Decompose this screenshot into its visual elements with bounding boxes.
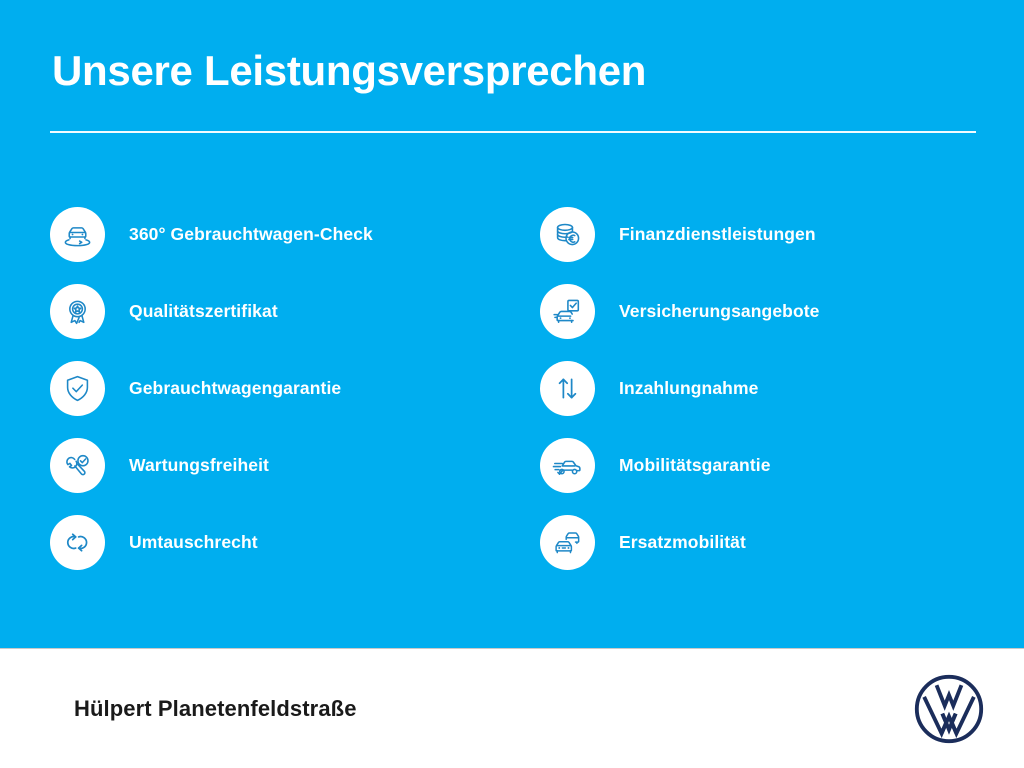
two-cars-icon (540, 515, 595, 570)
shield-check-icon (50, 361, 105, 416)
benefit-label: Qualitätszertifikat (129, 301, 278, 322)
benefits-right-column: Finanzdienstleistungen (520, 196, 1024, 581)
benefit-item-ersatzmobilitaet[interactable]: Ersatzmobilität (540, 504, 1024, 581)
coins-euro-icon (540, 207, 595, 262)
benefit-item-360-check[interactable]: 360° Gebrauchtwagen-Check (50, 196, 520, 273)
car-motion-check-icon (540, 438, 595, 493)
benefit-label: Finanzdienstleistungen (619, 224, 816, 245)
benefit-label: Gebrauchtwagengarantie (129, 378, 341, 399)
benefit-label: Mobilitätsgarantie (619, 455, 771, 476)
hero-panel: Unsere Leistungsversprechen (0, 0, 1024, 648)
benefit-label: 360° Gebrauchtwagen-Check (129, 224, 373, 245)
page-title: Unsere Leistungsversprechen (52, 46, 646, 96)
benefit-label: Ersatzmobilität (619, 532, 746, 553)
benefit-item-finanzdienstleistungen[interactable]: Finanzdienstleistungen (540, 196, 1024, 273)
exchange-arrows-icon (50, 515, 105, 570)
benefit-item-versicherungsangebote[interactable]: Versicherungsangebote (540, 273, 1024, 350)
wrench-check-icon (50, 438, 105, 493)
benefits-columns: 360° Gebrauchtwagen-Check Qualitätszerti… (0, 196, 1024, 581)
award-rosette-icon (50, 284, 105, 339)
arrows-up-down-icon (540, 361, 595, 416)
benefit-label: Wartungsfreiheit (129, 455, 269, 476)
volkswagen-logo-icon[interactable] (912, 672, 986, 746)
title-divider (50, 131, 976, 133)
benefit-item-umtauschrecht[interactable]: Umtauschrecht (50, 504, 520, 581)
benefit-item-inzahlungnahme[interactable]: Inzahlungnahme (540, 350, 1024, 427)
benefit-item-wartungsfreiheit[interactable]: Wartungsfreiheit (50, 427, 520, 504)
benefits-left-column: 360° Gebrauchtwagen-Check Qualitätszerti… (0, 196, 520, 581)
car-checkbox-icon (540, 284, 595, 339)
dealer-name: Hülpert Planetenfeldstraße (74, 696, 357, 722)
car-360-check-icon (50, 207, 105, 262)
benefit-item-mobilitaetsgarantie[interactable]: Mobilitätsgarantie (540, 427, 1024, 504)
benefit-label: Inzahlungnahme (619, 378, 758, 399)
footer-bar: Hülpert Planetenfeldstraße (0, 649, 1024, 768)
benefit-label: Versicherungsangebote (619, 301, 820, 322)
benefit-item-gebrauchtwagengarantie[interactable]: Gebrauchtwagengarantie (50, 350, 520, 427)
benefit-item-qualitaetszertifikat[interactable]: Qualitätszertifikat (50, 273, 520, 350)
slide-root: Unsere Leistungsversprechen (0, 0, 1024, 768)
benefit-label: Umtauschrecht (129, 532, 258, 553)
